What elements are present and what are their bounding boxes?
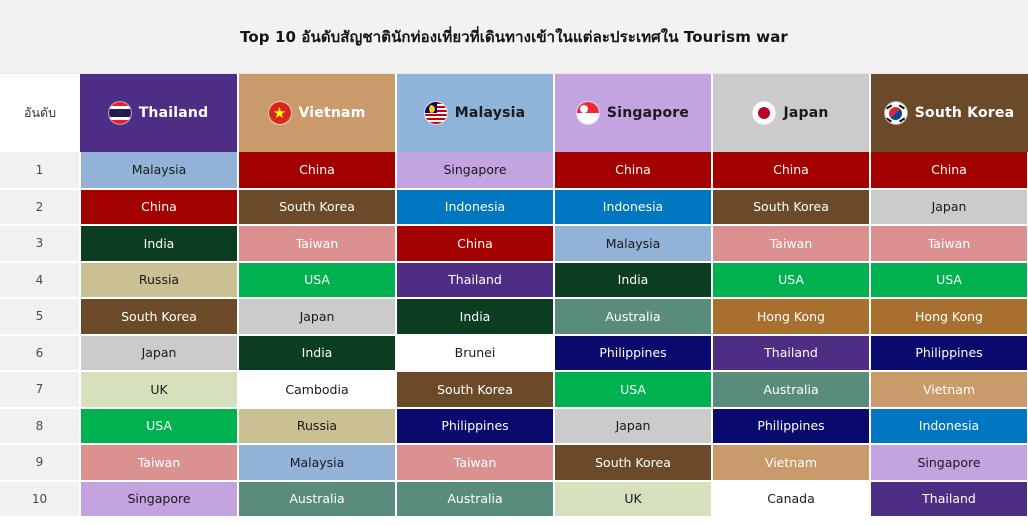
- column-header-vietnam[interactable]: ★ Vietnam: [238, 74, 396, 152]
- country-cell[interactable]: Philippines: [870, 335, 1028, 372]
- rank-column-header: อันดับ: [0, 74, 80, 152]
- column-header-label: Japan: [783, 105, 828, 121]
- page-title: Top 10 อันดับสัญชาตินักท่องเที่ยวที่เดิน…: [240, 25, 788, 49]
- column-header-label: Singapore: [607, 105, 689, 121]
- country-cell[interactable]: Australia: [554, 298, 712, 335]
- column-header-label: Malaysia: [455, 105, 526, 121]
- rank-cell: 10: [0, 481, 80, 518]
- country-cell[interactable]: Malaysia: [554, 225, 712, 262]
- country-cell[interactable]: Malaysia: [238, 444, 396, 481]
- column-header-thailand[interactable]: Thailand: [80, 74, 238, 152]
- country-cell[interactable]: Hong Kong: [870, 298, 1028, 335]
- table-row: 10SingaporeAustraliaAustraliaUKCanadaTha…: [0, 481, 1028, 518]
- country-cell[interactable]: China: [870, 152, 1028, 189]
- country-cell[interactable]: Singapore: [80, 481, 238, 518]
- country-cell[interactable]: South Korea: [238, 189, 396, 226]
- tourism-ranking-table: อันดับ Thailand ★ Vietnam: [0, 74, 1028, 518]
- flag-vietnam-icon: ★: [269, 102, 291, 124]
- country-cell[interactable]: Vietnam: [712, 444, 870, 481]
- country-cell[interactable]: South Korea: [712, 189, 870, 226]
- country-cell[interactable]: Philippines: [396, 408, 554, 445]
- country-cell[interactable]: Japan: [554, 408, 712, 445]
- country-cell[interactable]: Indonesia: [396, 189, 554, 226]
- table-row: 4RussiaUSAThailandIndiaUSAUSA: [0, 262, 1028, 299]
- table-row: 3IndiaTaiwanChinaMalaysiaTaiwanTaiwan: [0, 225, 1028, 262]
- country-cell[interactable]: Australia: [712, 371, 870, 408]
- country-cell[interactable]: Taiwan: [396, 444, 554, 481]
- country-cell[interactable]: Singapore: [870, 444, 1028, 481]
- country-cell[interactable]: Vietnam: [870, 371, 1028, 408]
- country-cell[interactable]: Indonesia: [554, 189, 712, 226]
- country-cell[interactable]: Thailand: [712, 335, 870, 372]
- country-cell[interactable]: Russia: [80, 262, 238, 299]
- country-cell[interactable]: India: [396, 298, 554, 335]
- country-cell[interactable]: Japan: [238, 298, 396, 335]
- country-cell[interactable]: Taiwan: [870, 225, 1028, 262]
- country-cell[interactable]: India: [80, 225, 238, 262]
- table-body: 1MalaysiaChinaSingaporeChinaChinaChina2C…: [0, 152, 1028, 517]
- table-row: 8USARussiaPhilippinesJapanPhilippinesInd…: [0, 408, 1028, 445]
- country-cell[interactable]: Philippines: [554, 335, 712, 372]
- flag-thailand-icon: [109, 102, 131, 124]
- country-cell[interactable]: India: [238, 335, 396, 372]
- country-cell[interactable]: Australia: [396, 481, 554, 518]
- country-cell[interactable]: China: [396, 225, 554, 262]
- country-cell[interactable]: China: [554, 152, 712, 189]
- country-cell[interactable]: USA: [238, 262, 396, 299]
- table-row: 7UKCambodiaSouth KoreaUSAAustraliaVietna…: [0, 371, 1028, 408]
- rank-cell: 3: [0, 225, 80, 262]
- rank-cell: 6: [0, 335, 80, 372]
- country-cell[interactable]: UK: [554, 481, 712, 518]
- country-cell[interactable]: Singapore: [396, 152, 554, 189]
- rank-cell: 9: [0, 444, 80, 481]
- table-row: 9TaiwanMalaysiaTaiwanSouth KoreaVietnamS…: [0, 444, 1028, 481]
- header-row: อันดับ Thailand ★ Vietnam: [0, 74, 1028, 152]
- column-header-singapore[interactable]: Singapore: [554, 74, 712, 152]
- country-cell[interactable]: Cambodia: [238, 371, 396, 408]
- country-cell[interactable]: South Korea: [80, 298, 238, 335]
- country-cell[interactable]: Russia: [238, 408, 396, 445]
- rank-cell: 5: [0, 298, 80, 335]
- country-cell[interactable]: China: [712, 152, 870, 189]
- country-cell[interactable]: South Korea: [554, 444, 712, 481]
- country-cell[interactable]: Philippines: [712, 408, 870, 445]
- column-header-malaysia[interactable]: Malaysia: [396, 74, 554, 152]
- country-cell[interactable]: China: [80, 189, 238, 226]
- tourism-ranking-page: Top 10 อันดับสัญชาตินักท่องเที่ยวที่เดิน…: [0, 0, 1028, 526]
- country-cell[interactable]: USA: [712, 262, 870, 299]
- country-cell[interactable]: USA: [554, 371, 712, 408]
- flag-malaysia-icon: [425, 102, 447, 124]
- title-band: Top 10 อันดับสัญชาตินักท่องเที่ยวที่เดิน…: [0, 0, 1028, 74]
- table-row: 1MalaysiaChinaSingaporeChinaChinaChina: [0, 152, 1028, 189]
- rank-cell: 7: [0, 371, 80, 408]
- country-cell[interactable]: Brunei: [396, 335, 554, 372]
- column-header-label: South Korea: [915, 105, 1014, 121]
- rank-cell: 1: [0, 152, 80, 189]
- column-header-japan[interactable]: Japan: [712, 74, 870, 152]
- country-cell[interactable]: Canada: [712, 481, 870, 518]
- country-cell[interactable]: Taiwan: [712, 225, 870, 262]
- country-cell[interactable]: USA: [870, 262, 1028, 299]
- country-cell[interactable]: Taiwan: [238, 225, 396, 262]
- column-header-label: Thailand: [139, 105, 209, 121]
- country-cell[interactable]: Taiwan: [80, 444, 238, 481]
- flag-japan-icon: [753, 102, 775, 124]
- country-cell[interactable]: South Korea: [396, 371, 554, 408]
- country-cell[interactable]: Thailand: [396, 262, 554, 299]
- table-row: 6JapanIndiaBruneiPhilippinesThailandPhil…: [0, 335, 1028, 372]
- table-header: อันดับ Thailand ★ Vietnam: [0, 74, 1028, 152]
- country-cell[interactable]: Indonesia: [870, 408, 1028, 445]
- country-cell[interactable]: UK: [80, 371, 238, 408]
- country-cell[interactable]: USA: [80, 408, 238, 445]
- table-row: 2ChinaSouth KoreaIndonesiaIndonesiaSouth…: [0, 189, 1028, 226]
- country-cell[interactable]: China: [238, 152, 396, 189]
- rank-cell: 4: [0, 262, 80, 299]
- rank-cell: 8: [0, 408, 80, 445]
- table-row: 5South KoreaJapanIndiaAustraliaHong Kong…: [0, 298, 1028, 335]
- country-cell[interactable]: Japan: [870, 189, 1028, 226]
- country-cell[interactable]: Thailand: [870, 481, 1028, 518]
- country-cell[interactable]: Japan: [80, 335, 238, 372]
- country-cell[interactable]: Malaysia: [80, 152, 238, 189]
- country-cell[interactable]: India: [554, 262, 712, 299]
- column-header-label: Vietnam: [299, 105, 366, 121]
- flag-singapore-icon: [577, 102, 599, 124]
- flag-southkorea-icon: [885, 102, 907, 124]
- country-cell[interactable]: Australia: [238, 481, 396, 518]
- rank-cell: 2: [0, 189, 80, 226]
- country-cell[interactable]: Hong Kong: [712, 298, 870, 335]
- column-header-south-korea[interactable]: South Korea: [870, 74, 1028, 152]
